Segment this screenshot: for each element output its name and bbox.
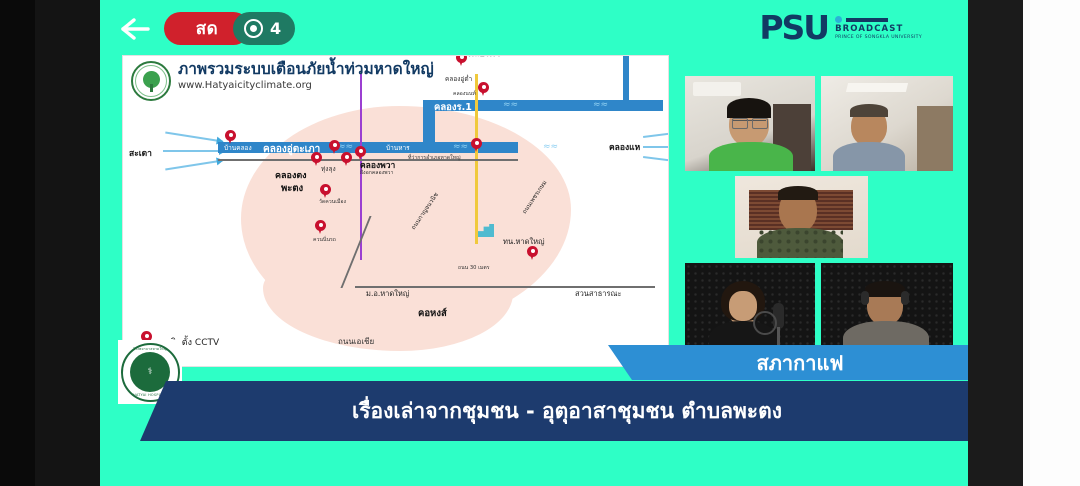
psu-accent-line (835, 16, 922, 23)
participant-top-left[interactable] (685, 76, 815, 171)
map-label-sadao: สะเดา (129, 146, 152, 160)
top-bar: สด 4 PSU BROADCAST PRINCE OF SONGKLA UNI… (100, 0, 968, 58)
psu-university-label: PRINCE OF SONGKLA UNIVERSITY (835, 35, 922, 40)
map-label-khlong-tong: คลองตง (275, 168, 307, 182)
map-label-amphoe-office: ที่ว่าการอำเภอหาดใหญ่ (408, 154, 461, 162)
map-label-wat-khwan-mueang: วัดควนเมือง (319, 198, 346, 206)
hospital-logo-top-text: โรงพยาบาลหาดใหญ่ (133, 347, 167, 352)
outflow-arrow (643, 156, 669, 162)
map-label-ban-harn: บ้านหาร (386, 143, 410, 153)
slide-header: ภาพรวมระบบเตือนภัยน้ำท่วมหาดใหญ่ www.Hat… (123, 56, 668, 103)
back-arrow-icon[interactable] (118, 14, 152, 44)
cctv-pin (471, 138, 482, 153)
cctv-pin (315, 220, 326, 235)
presentation-slide[interactable]: ภาพรวมระบบเตือนภัยน้ำท่วมหาดใหญ่ www.Hat… (122, 55, 669, 367)
slide-url: www.Hatyaicityclimate.org (178, 80, 434, 91)
map-label-khlong-phawa-sub: ฝั่งอกคลองพวา (360, 169, 393, 177)
participant-center[interactable] (735, 176, 868, 258)
live-label: สด (196, 15, 218, 42)
cctv-pin (355, 146, 366, 161)
participant-bottom-left[interactable] (685, 263, 815, 358)
map-label-thung-lung: ทุ่งลุง (321, 164, 336, 174)
viewer-count-label: 4 (270, 19, 281, 38)
outflow-arrow (643, 132, 669, 138)
cctv-pin (527, 246, 538, 261)
inflow-arrow (165, 131, 223, 142)
cctv-pin (311, 152, 322, 167)
participant-grid (685, 76, 953, 358)
phone-bezel-left (0, 0, 100, 486)
map-label-thanon-30m: ถนน 30 เมตร (458, 264, 489, 272)
system-nav-strip (1023, 0, 1080, 486)
phone-screenshot: สด 4 PSU BROADCAST PRINCE OF SONGKLA UNI… (0, 0, 1080, 486)
slide-title: ภาพรวมระบบเตือนภัยน้ำท่วมหาดใหญ่ (178, 61, 434, 79)
program-title-bar: สภากาแฟ (632, 345, 968, 380)
map-label-suan-satharana: สวนสาธารณะ (575, 288, 622, 300)
phone-dark-right-edge (968, 0, 1023, 486)
lower-third-banner: เรื่องเล่าจากชุมชน - อุตุอาสาชุมชน ตำบลพ… (166, 381, 968, 441)
cctv-pin (329, 140, 340, 155)
psu-wordmark: PSU (759, 12, 828, 43)
map-label-phatong: พะตง (281, 181, 303, 196)
inflow-arrow (165, 159, 223, 170)
broadcast-app: สด 4 PSU BROADCAST PRINCE OF SONGKLA UNI… (100, 0, 968, 486)
lower-third-label: เรื่องเล่าจากชุมชน - อุตุอาสาชุมชน ตำบลพ… (166, 381, 968, 441)
cctv-pin (320, 184, 331, 199)
program-title-label: สภากาแฟ (632, 345, 968, 380)
hatyai-city-tree-seal-icon (131, 61, 171, 101)
map-label-khlong-hae: คลองแห (609, 140, 640, 154)
map-label-khwan-nin-rot: ควนนิ่นรถ (313, 236, 336, 244)
eye-icon (244, 19, 263, 38)
flood-warning-map: สะเดา บ้านคลอง คลองอู่ตะเภา บ้านหาร ≈≈ ค… (123, 96, 668, 366)
participant-bottom-right[interactable] (821, 263, 953, 358)
viewer-count-badge: 4 (233, 12, 295, 45)
cctv-pin (341, 152, 352, 167)
cctv-pin (225, 130, 236, 145)
psu-broadcast-logo: PSU BROADCAST PRINCE OF SONGKLA UNIVERSI… (759, 12, 922, 43)
phone-bezel-left-inner (35, 0, 100, 486)
legend-road-label: ถนนเอเชีย (338, 335, 374, 348)
map-label-mo-hatyai: ม.อ.หาดใหญ่ (366, 288, 409, 300)
psu-dot-icon (835, 16, 842, 23)
map-label-tn-hatyai: ทน.หาดใหญ่ (503, 236, 544, 248)
psu-broadcast-label: BROADCAST (835, 24, 922, 34)
inflow-arrow (163, 150, 225, 152)
map-label-kho-hong: คอหงส์ (418, 306, 447, 321)
participant-top-right[interactable] (821, 76, 953, 171)
outflow-arrow (643, 146, 669, 148)
